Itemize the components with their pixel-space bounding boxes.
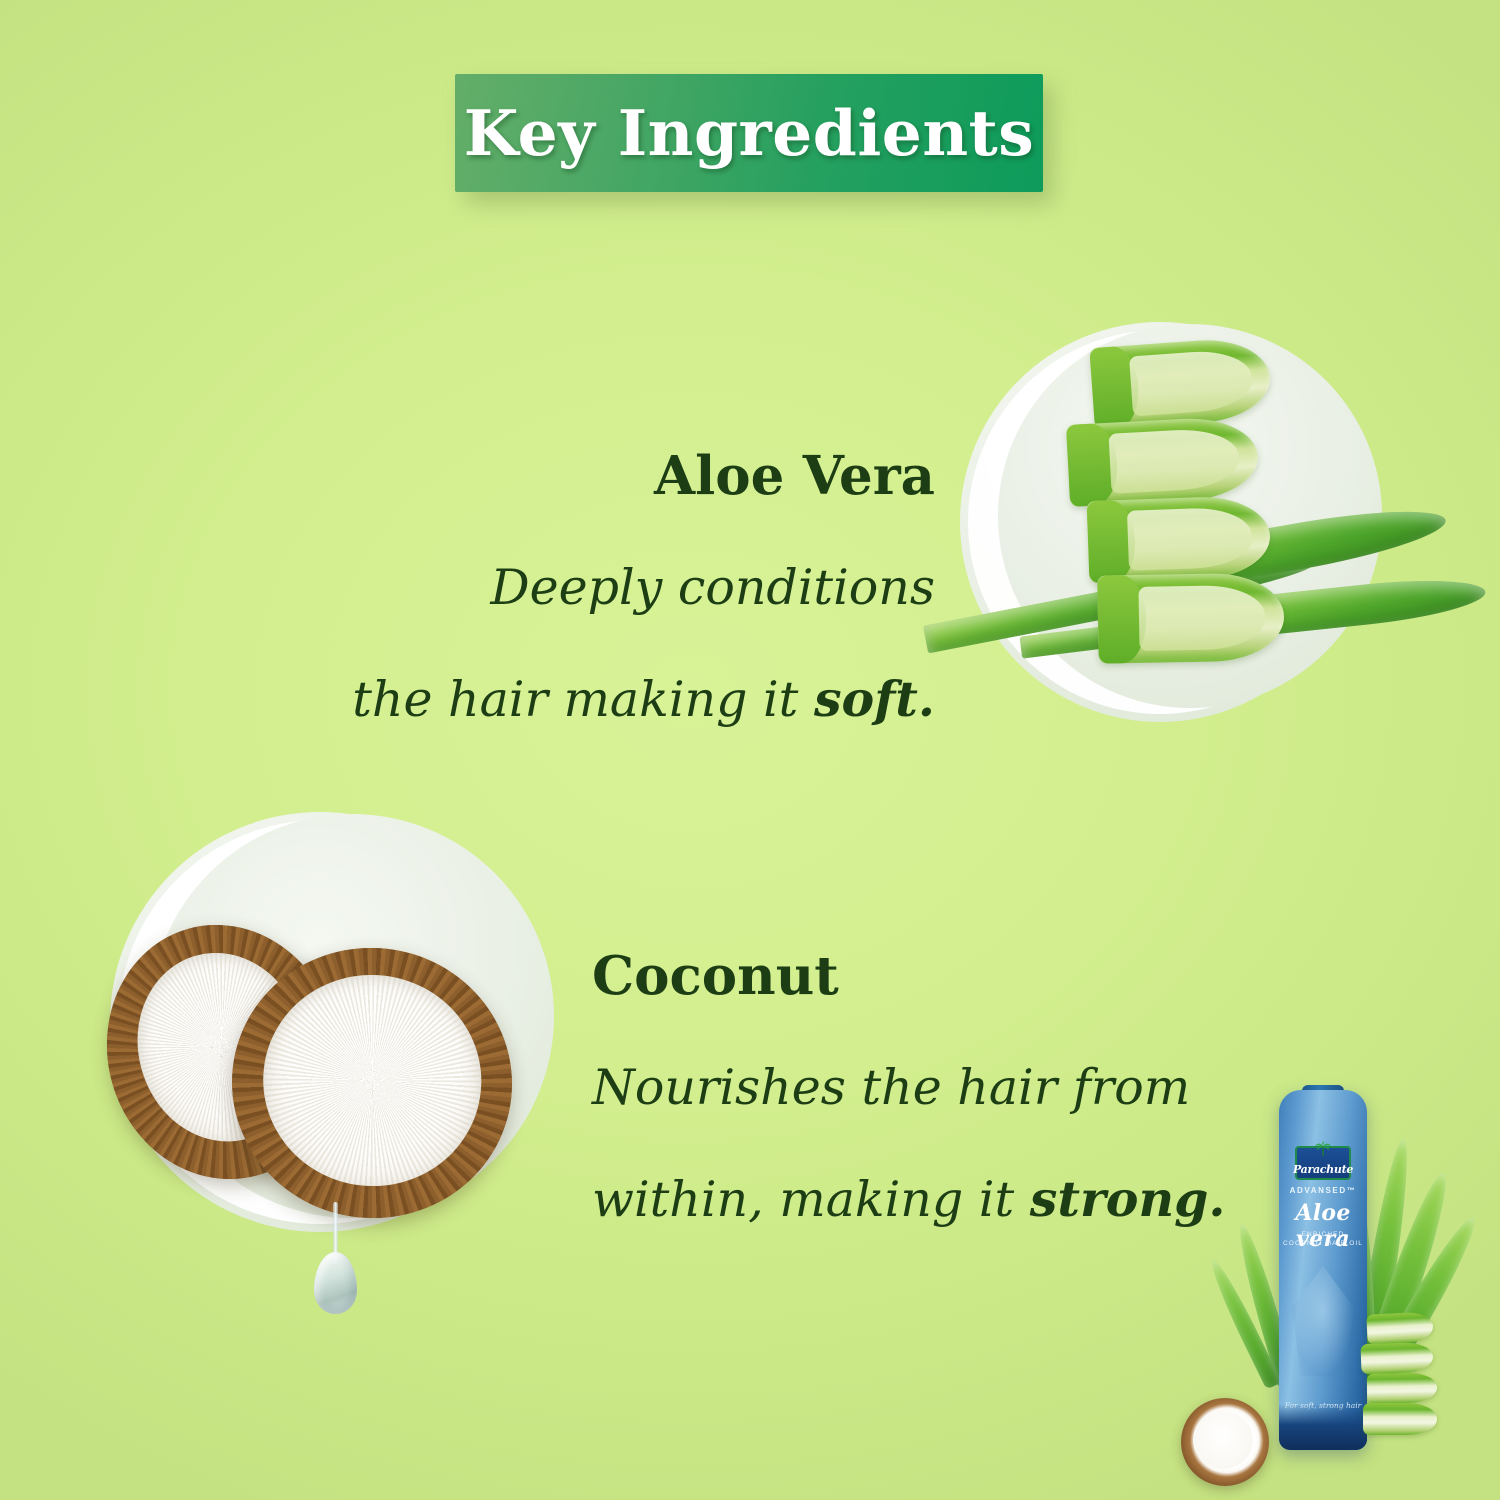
product-aloe-slice-2 [1360, 1342, 1433, 1374]
ingredient-description-coconut: Nourishes the hair from within, making i… [592, 1004, 1272, 1227]
ingredient-name-coconut: Coconut [592, 948, 1272, 1004]
infographic-canvas: Key Ingredients Aloe Vera [0, 0, 1500, 1500]
aloe-slice-4 [1097, 572, 1285, 663]
coconut-photo [100, 812, 600, 1372]
bottle-base-shadow [1279, 1404, 1367, 1450]
aloe-slice-gel [1138, 585, 1266, 651]
product-aloe-slice-3 [1367, 1372, 1438, 1403]
ingredient-name-aloe-vera: Aloe Vera [315, 448, 935, 504]
sub-brand-label: ADVANSED™ [1279, 1186, 1367, 1195]
aloe-vera-text-block: Aloe Vera Deeply conditions the hair mak… [315, 448, 935, 728]
parachute-brand-logo: Parachute [1295, 1146, 1351, 1180]
product-coconut-half [1181, 1398, 1269, 1486]
coconut-desc-line-2: within, making it [592, 1171, 1030, 1228]
descriptor-line-1: ENRICHED [1302, 1231, 1345, 1238]
ingredient-description-aloe-vera: Deeply conditions the hair making it sof… [315, 504, 935, 727]
aloe-slice-gel [1108, 428, 1240, 494]
palm-tree-icon [1312, 1141, 1334, 1157]
aloe-desc-line-2: the hair making it [352, 671, 814, 728]
descriptor-line-2: COCONUT HAIR OIL [1283, 1240, 1363, 1247]
aloe-vera-photo [940, 322, 1500, 772]
coconut-desc-line-1: Nourishes the hair from [592, 1059, 1190, 1116]
product-shot: Parachute ADVANSED™ Aloe vera ENRICHED C… [1175, 1085, 1500, 1500]
product-aloe-slice-4 [1363, 1403, 1437, 1435]
coconut-text-block: Coconut Nourishes the hair from within, … [592, 948, 1272, 1228]
product-bottle: Parachute ADVANSED™ Aloe vera ENRICHED C… [1279, 1090, 1367, 1450]
page-title: Key Ingredients [464, 102, 1035, 165]
aloe-slice-gel [1129, 349, 1254, 416]
aloe-slice-gel [1127, 507, 1253, 570]
product-aloe-slice-1 [1366, 1311, 1433, 1344]
sub-brand-text: ADVANSED [1290, 1186, 1347, 1195]
aloe-desc-emphasis: soft. [814, 670, 935, 728]
key-ingredients-banner: Key Ingredients [455, 74, 1043, 192]
aloe-desc-line-1: Deeply conditions [490, 559, 935, 616]
banner-background: Key Ingredients [455, 74, 1043, 192]
brand-name: Parachute [1293, 1164, 1353, 1178]
sub-brand-trademark-mark: ™ [1347, 1186, 1357, 1195]
bottle-label-artwork [1292, 1266, 1354, 1376]
coconut-water-drop [314, 1252, 357, 1314]
product-descriptor: ENRICHED COCONUT HAIR OIL [1279, 1230, 1367, 1249]
product-coconut-flesh [1193, 1411, 1253, 1469]
